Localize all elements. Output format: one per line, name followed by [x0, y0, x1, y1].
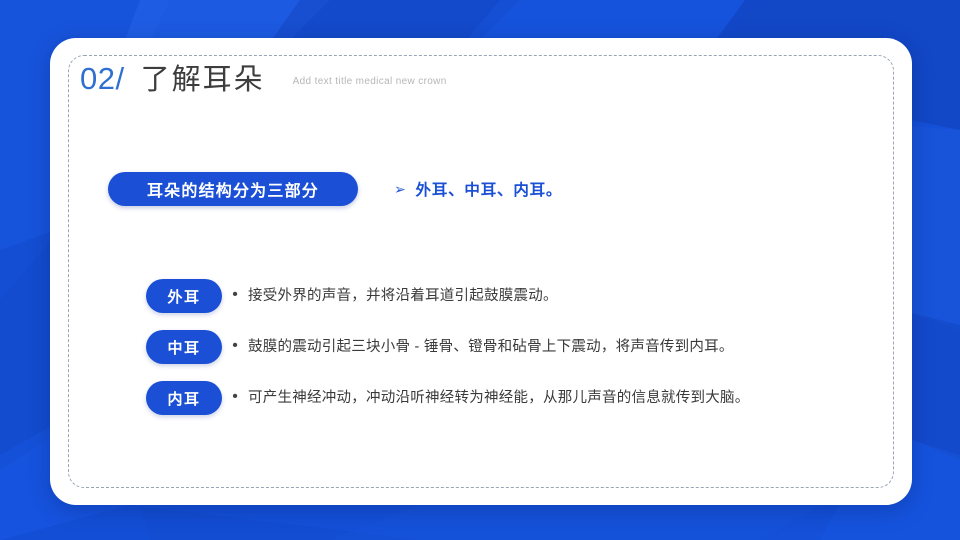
list-item: 中耳 • 鼓膜的震动引起三块小骨 - 锤骨、镫骨和砧骨上下震动，将声音传到内耳。	[146, 330, 886, 364]
list-item-text: 鼓膜的震动引起三块小骨 - 锤骨、镫骨和砧骨上下震动，将声音传到内耳。	[248, 338, 886, 357]
list-item: 内耳 • 可产生神经冲动，冲动沿听神经转为神经能，从那儿声音的信息就传到大脑。	[146, 381, 886, 415]
card-dashed-border	[68, 55, 894, 488]
tag-pill-inner-ear: 内耳	[146, 381, 222, 415]
slide-root: 02/ 了解耳朵 Add text title medical new crow…	[0, 0, 960, 540]
bullet-icon: •	[222, 389, 248, 405]
lead-note-text: 外耳、中耳、内耳。	[416, 178, 563, 200]
list-item-text: 可产生神经冲动，冲动沿听神经转为神经能，从那儿声音的信息就传到大脑。	[248, 389, 886, 408]
structure-list: 外耳 • 接受外界的声音，并将沿着耳道引起鼓膜震动。 中耳 • 鼓膜的震动引起三…	[146, 279, 886, 415]
list-item: 外耳 • 接受外界的声音，并将沿着耳道引起鼓膜震动。	[146, 279, 886, 313]
lead-note: ➢ 外耳、中耳、内耳。	[394, 178, 562, 200]
list-item-text: 接受外界的声音，并将沿着耳道引起鼓膜震动。	[248, 287, 886, 306]
lead-pill-label: 耳朵的结构分为三部分	[108, 172, 358, 206]
lead-row: 耳朵的结构分为三部分 ➢ 外耳、中耳、内耳。	[108, 172, 562, 206]
page-title: 了解耳朵	[141, 66, 265, 95]
tag-pill-outer-ear: 外耳	[146, 279, 222, 313]
tag-pill-middle-ear: 中耳	[146, 330, 222, 364]
page-subtitle: Add text title medical new crown	[293, 77, 447, 87]
page-header: 02/ 了解耳朵 Add text title medical new crow…	[80, 63, 447, 95]
bullet-icon: •	[222, 287, 248, 303]
bullet-icon: •	[222, 338, 248, 354]
content-card: 02/ 了解耳朵 Add text title medical new crow…	[50, 38, 912, 505]
section-number: 02/	[80, 63, 125, 94]
arrow-right-icon: ➢	[394, 182, 407, 196]
